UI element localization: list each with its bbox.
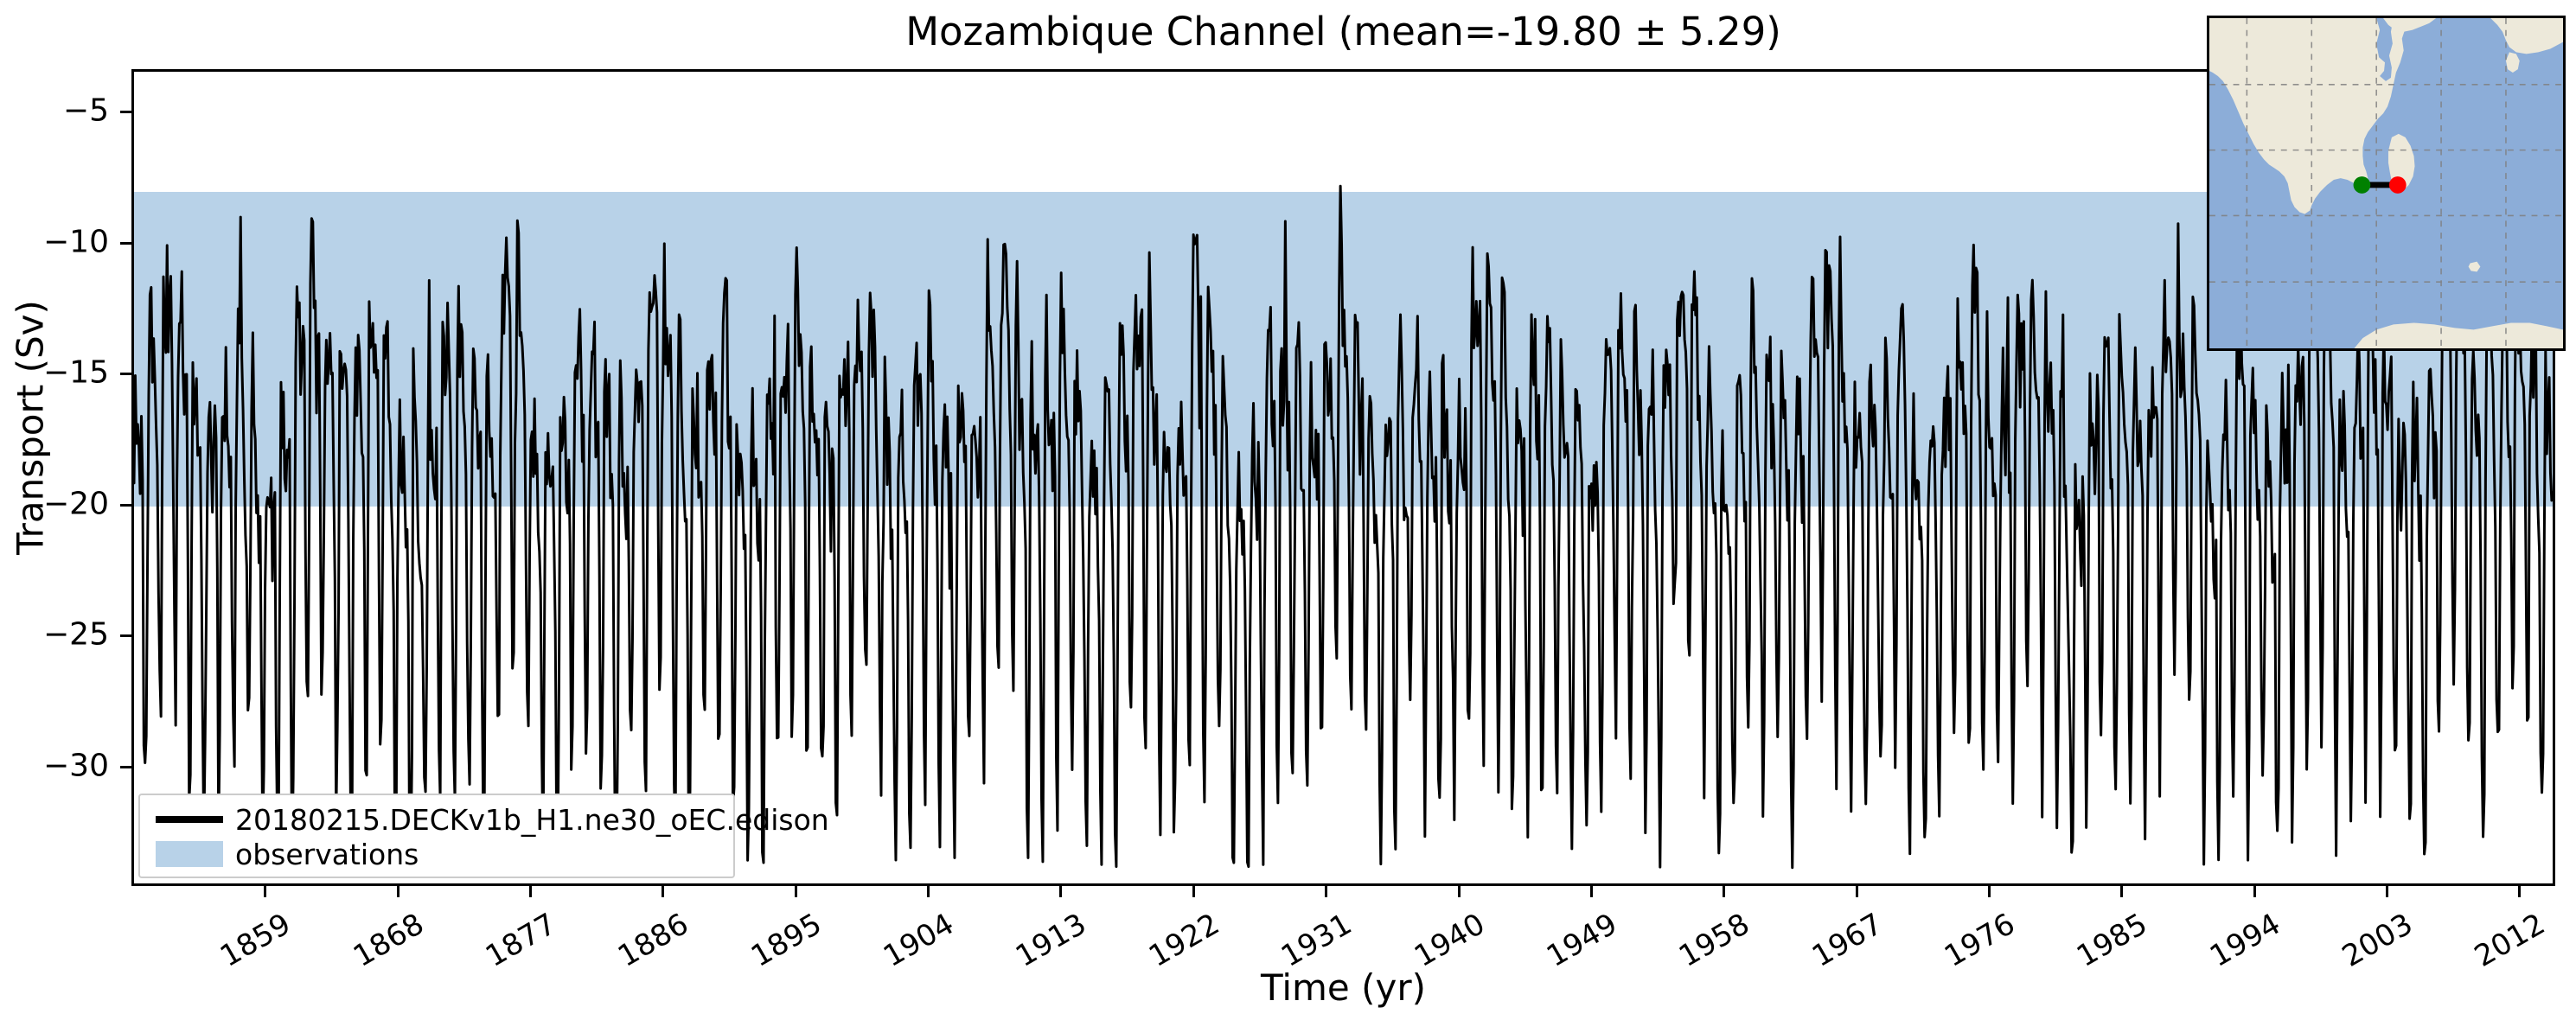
- x-tick-mark: [1458, 886, 1461, 897]
- x-tick-label: 1931: [1275, 907, 1358, 974]
- x-tick-label: 1958: [1673, 907, 1755, 974]
- x-tick-label: 1913: [1011, 907, 1093, 974]
- x-tick-label: 1985: [2071, 907, 2153, 974]
- x-tick-label: 1895: [745, 907, 828, 974]
- transport-timeseries-line: [134, 72, 2553, 883]
- legend-item-observations: observations: [152, 837, 721, 871]
- x-tick-mark: [1723, 886, 1725, 897]
- transect-start-marker: [2354, 176, 2371, 194]
- legend-line-swatch: [152, 816, 227, 823]
- transect-location-map: [2207, 16, 2566, 351]
- x-tick-label: 1868: [348, 907, 430, 974]
- x-tick-mark: [662, 886, 664, 897]
- chart-legend: 20180215.DECKv1b_H1.ne30_oEC.edison obse…: [138, 794, 735, 878]
- legend-item-model: 20180215.DECKv1b_H1.ne30_oEC.edison: [152, 802, 721, 837]
- x-tick-mark: [2120, 886, 2123, 897]
- y-tick-mark: [120, 634, 131, 637]
- x-tick-mark: [397, 886, 400, 897]
- x-tick-mark: [2386, 886, 2388, 897]
- y-tick-mark: [120, 766, 131, 768]
- x-tick-label: 1904: [878, 907, 960, 974]
- y-tick-mark: [120, 504, 131, 507]
- y-tick-label: −10: [43, 224, 109, 259]
- x-tick-mark: [927, 886, 930, 897]
- x-tick-label: 1886: [612, 907, 694, 974]
- x-tick-mark: [1325, 886, 1327, 897]
- x-tick-label: 1994: [2204, 907, 2286, 974]
- x-tick-mark: [2518, 886, 2521, 897]
- y-tick-label: −5: [63, 93, 109, 129]
- y-tick-mark: [120, 373, 131, 375]
- x-tick-mark: [264, 886, 266, 897]
- legend-label-observations: observations: [227, 838, 419, 871]
- x-axis-label: Time (yr): [131, 966, 2555, 1009]
- x-tick-label: 1877: [480, 907, 562, 974]
- y-tick-mark: [120, 242, 131, 245]
- page-title: Mozambique Channel (mean=-19.80 ± 5.29): [131, 7, 2555, 57]
- x-tick-mark: [1590, 886, 1593, 897]
- legend-patch-swatch: [152, 841, 227, 867]
- y-tick-label: −20: [43, 486, 109, 521]
- y-tick-mark: [120, 111, 131, 113]
- x-tick-mark: [1192, 886, 1195, 897]
- legend-label-model: 20180215.DECKv1b_H1.ne30_oEC.edison: [227, 803, 829, 837]
- x-tick-label: 1859: [214, 907, 297, 974]
- x-tick-label: 1949: [1541, 907, 1623, 974]
- x-tick-mark: [529, 886, 532, 897]
- x-tick-mark: [2253, 886, 2256, 897]
- y-tick-label: −15: [43, 355, 109, 391]
- y-axis-tick-labels: −5−10−15−20−25−30: [0, 69, 109, 886]
- y-tick-label: −25: [43, 617, 109, 653]
- y-tick-label: −30: [43, 748, 109, 783]
- x-tick-mark: [1059, 886, 1062, 897]
- x-tick-label: 1976: [1939, 907, 2021, 974]
- x-tick-mark: [1988, 886, 1991, 897]
- x-tick-label: 1940: [1409, 907, 1491, 974]
- x-tick-label: 2012: [2469, 907, 2551, 974]
- x-tick-mark: [795, 886, 797, 897]
- x-tick-label: 1967: [1806, 907, 1889, 974]
- x-tick-label: 1922: [1143, 907, 1225, 974]
- plot-area: [131, 69, 2555, 886]
- x-tick-mark: [1856, 886, 1858, 897]
- x-tick-label: 2003: [2336, 907, 2419, 974]
- figure-canvas: Mozambique Channel (mean=-19.80 ± 5.29) …: [0, 0, 2576, 1020]
- transect-end-marker: [2389, 176, 2407, 194]
